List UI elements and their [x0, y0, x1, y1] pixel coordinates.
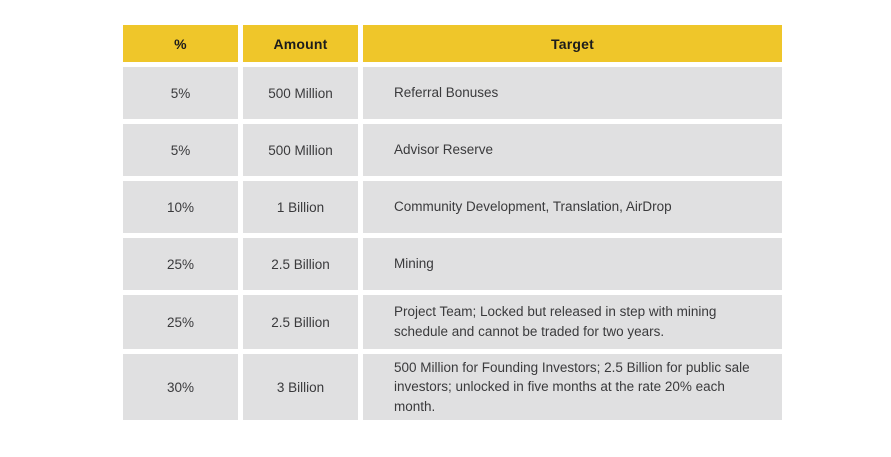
cell-percent: 25%: [123, 295, 238, 349]
page-canvas: % Amount Target 5% 500 Million Referral …: [0, 0, 891, 457]
cell-target: 500 Million for Founding Investors; 2.5 …: [363, 354, 782, 420]
cell-target: Referral Bonuses: [363, 67, 782, 119]
token-allocation-table: % Amount Target 5% 500 Million Referral …: [118, 20, 787, 425]
column-header-target: Target: [363, 25, 782, 62]
table-row: 30% 3 Billion 500 Million for Founding I…: [123, 354, 782, 420]
cell-percent: 5%: [123, 124, 238, 176]
cell-percent: 25%: [123, 238, 238, 290]
cell-amount: 2.5 Billion: [243, 295, 358, 349]
table-row: 25% 2.5 Billion Project Team; Locked but…: [123, 295, 782, 349]
cell-target: Advisor Reserve: [363, 124, 782, 176]
cell-amount: 1 Billion: [243, 181, 358, 233]
cell-amount: 3 Billion: [243, 354, 358, 420]
cell-amount: 2.5 Billion: [243, 238, 358, 290]
cell-target: Mining: [363, 238, 782, 290]
cell-amount: 500 Million: [243, 124, 358, 176]
cell-percent: 5%: [123, 67, 238, 119]
cell-target: Community Development, Translation, AirD…: [363, 181, 782, 233]
cell-percent: 10%: [123, 181, 238, 233]
cell-target: Project Team; Locked but released in ste…: [363, 295, 782, 349]
column-header-percent: %: [123, 25, 238, 62]
table-row: 10% 1 Billion Community Development, Tra…: [123, 181, 782, 233]
cell-percent: 30%: [123, 354, 238, 420]
table-header: % Amount Target: [123, 25, 782, 62]
table-body: 5% 500 Million Referral Bonuses 5% 500 M…: [123, 67, 782, 420]
table-header-row: % Amount Target: [123, 25, 782, 62]
table-row: 25% 2.5 Billion Mining: [123, 238, 782, 290]
table-row: 5% 500 Million Referral Bonuses: [123, 67, 782, 119]
column-header-amount: Amount: [243, 25, 358, 62]
cell-amount: 500 Million: [243, 67, 358, 119]
table-row: 5% 500 Million Advisor Reserve: [123, 124, 782, 176]
